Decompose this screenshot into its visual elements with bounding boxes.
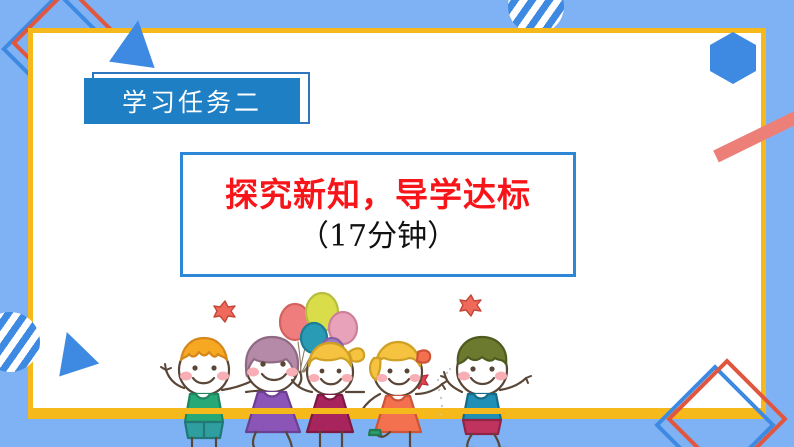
child-boy-green xyxy=(161,338,259,447)
blue-triangle-icon xyxy=(109,17,161,68)
child-girl-purple xyxy=(246,337,301,447)
main-title: 探究新知，导学达标 xyxy=(225,176,531,214)
task-banner: 学习任务二 xyxy=(84,78,300,124)
banner-fill: 学习任务二 xyxy=(84,78,300,124)
main-content-box: 探究新知，导学达标 （17分钟） xyxy=(180,152,576,277)
child-boy-teal xyxy=(441,337,531,447)
flower-icon xyxy=(460,295,481,316)
main-subtitle: （17分钟） xyxy=(299,220,457,253)
flower-icon xyxy=(214,301,235,322)
ground-line xyxy=(28,408,766,414)
banner-label: 学习任务二 xyxy=(122,83,262,119)
children-illustration xyxy=(150,280,550,447)
slide-canvas: 学习任务二 探究新知，导学达标 （17分钟） xyxy=(0,0,794,447)
child-girl-orange xyxy=(362,342,447,447)
